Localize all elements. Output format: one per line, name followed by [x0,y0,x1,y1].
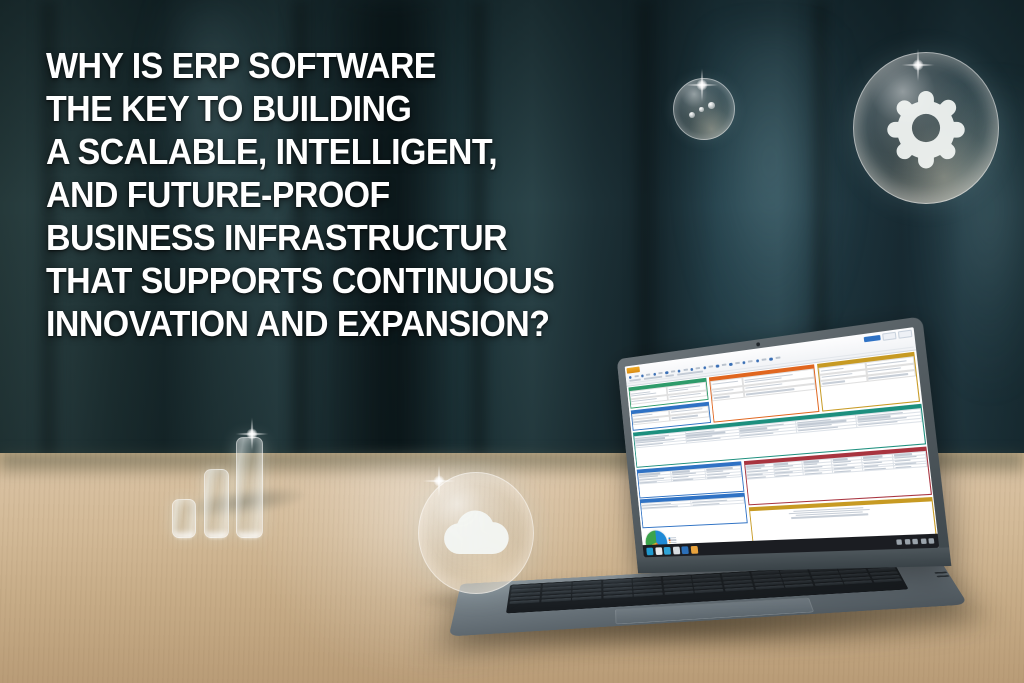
erp-dashboard [625,327,940,557]
headline-line-3: A SCALABLE, INTELLIGENT, [46,130,641,173]
toolbar-icon [756,359,759,363]
tray-icon [920,538,926,544]
taskbar-app-icon [655,547,662,555]
headline-line-1: WHY IS ERP SOFTWARE [46,44,641,87]
tray-icon [904,539,910,545]
tray-icon [896,539,902,545]
bar-small [172,499,196,538]
erp-workspace [627,350,940,557]
taskbar-app-icon [664,546,671,554]
toolbar-icon [769,357,773,361]
bubble-inner-dots [687,100,721,122]
toolbar-icon [729,362,732,366]
taskbar-app-icon [672,546,680,554]
panel-inventory-gold[interactable] [817,352,921,412]
gear-icon [882,84,970,172]
headline-line-2: THE KEY TO BUILDING [46,87,641,130]
toolbar-icon [653,372,656,376]
headline-line-6: THAT SUPPORTS CONTINUOUS [46,259,641,302]
toolbar-icon [665,371,668,375]
taskbar-apps[interactable] [646,545,698,554]
headline-line-4: AND FUTURE-PROOF [46,173,641,216]
erp-primary-button[interactable] [864,334,881,341]
erp-logo [626,366,639,373]
cloud-icon [441,498,511,568]
panel-footer-blue[interactable] [639,493,747,529]
cloud-bubble [418,472,534,594]
bar-medium [204,469,229,538]
tray-icon [928,538,934,544]
taskbar-tray[interactable] [896,538,934,545]
decorative-bubble [673,78,735,140]
erp-secondary-button[interactable] [882,331,896,340]
page-title: WHY IS ERP SOFTWARE THE KEY TO BUILDING … [46,44,641,345]
bar-large [236,437,263,538]
taskbar-app-icon [646,547,653,555]
taskbar-app-icon [690,545,698,553]
erp-tertiary-button[interactable] [898,329,913,338]
panel-orders-orange[interactable] [709,365,819,423]
toolbar-icon [641,374,644,377]
toolbar-icon [703,366,706,370]
laptop-screen[interactable] [625,327,940,557]
poster-canvas: WHY IS ERP SOFTWARE THE KEY TO BUILDING … [0,0,1024,683]
toolbar-icon [716,364,719,368]
tray-icon [912,539,918,545]
laptop-lid [617,316,952,573]
taskbar-app-icon [681,546,689,554]
bar-chart-icon [172,430,280,538]
laptop-ports [934,571,956,583]
webcam-icon [756,342,760,346]
headline-line-5: BUSINESS INFRASTRUCTUR [46,216,641,259]
gear-bubble [853,52,999,204]
